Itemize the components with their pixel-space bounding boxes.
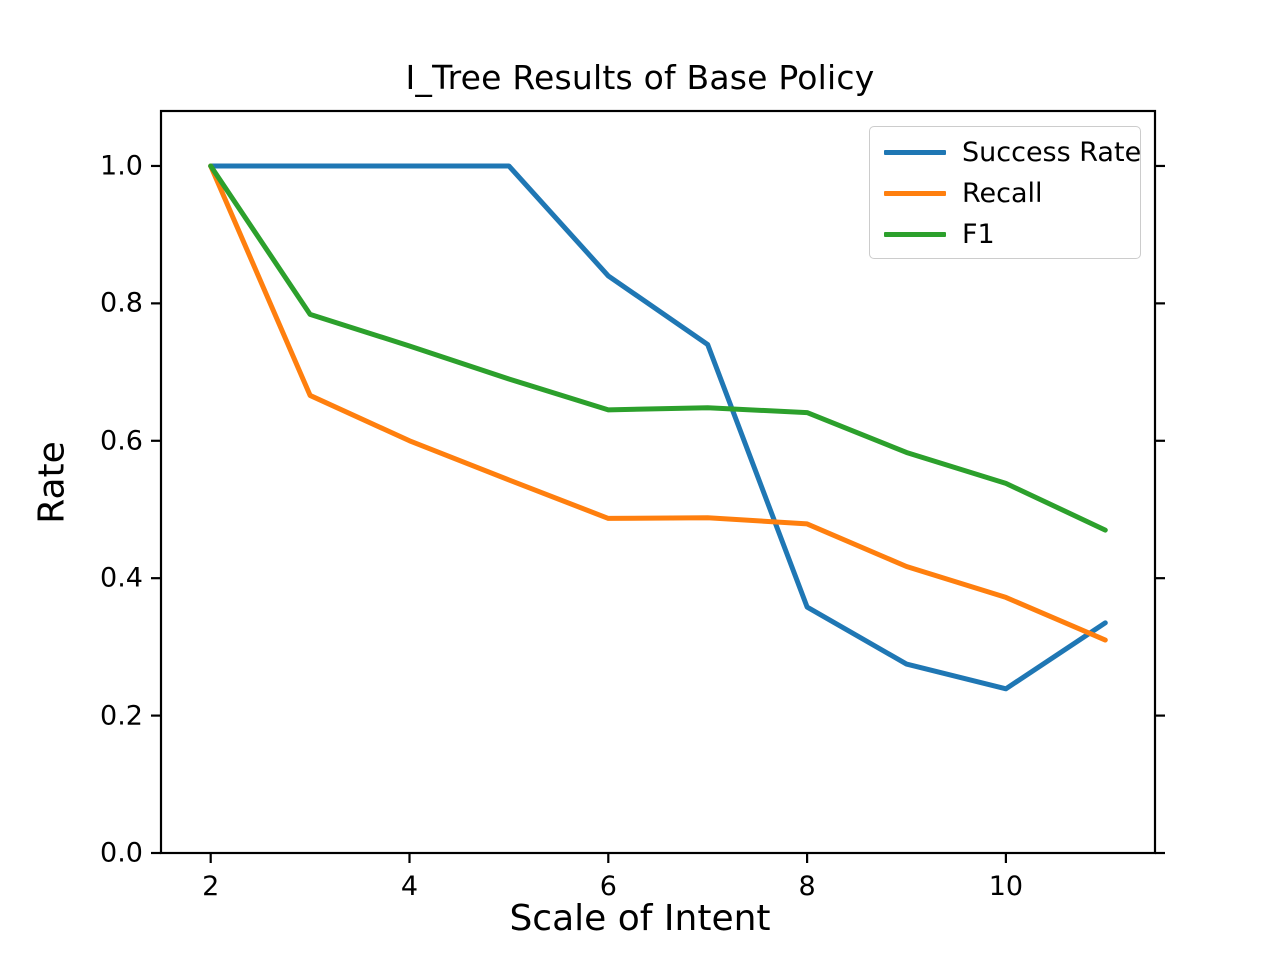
x-axis-label: Scale of Intent [0, 898, 1280, 939]
matplotlib-figure: I_Tree Results of Base Policy 0.00.20.40… [0, 0, 1280, 960]
legend-swatch-recall [884, 191, 946, 196]
y-tick-label: 0.6 [100, 425, 143, 456]
legend-label-success-rate: Success Rate [962, 139, 1141, 166]
legend-swatch-success-rate [884, 150, 946, 155]
y-tick-label: 1.0 [100, 150, 143, 181]
legend-item-f1: F1 [884, 217, 995, 251]
y-tick-label: 0.0 [100, 838, 143, 869]
legend: Success Rate Recall F1 [869, 126, 1141, 259]
y-tick-label: 0.8 [100, 288, 143, 319]
y-axis-label: Rate [32, 383, 73, 583]
legend-label-recall: Recall [962, 180, 1043, 207]
legend-label-f1: F1 [962, 221, 995, 248]
legend-swatch-f1 [884, 232, 946, 237]
legend-item-success-rate: Success Rate [884, 135, 1141, 169]
legend-item-recall: Recall [884, 176, 1043, 210]
y-tick-label: 0.2 [100, 700, 143, 731]
x-tick-marks [211, 853, 1006, 863]
y-tick-label: 0.4 [100, 563, 143, 594]
